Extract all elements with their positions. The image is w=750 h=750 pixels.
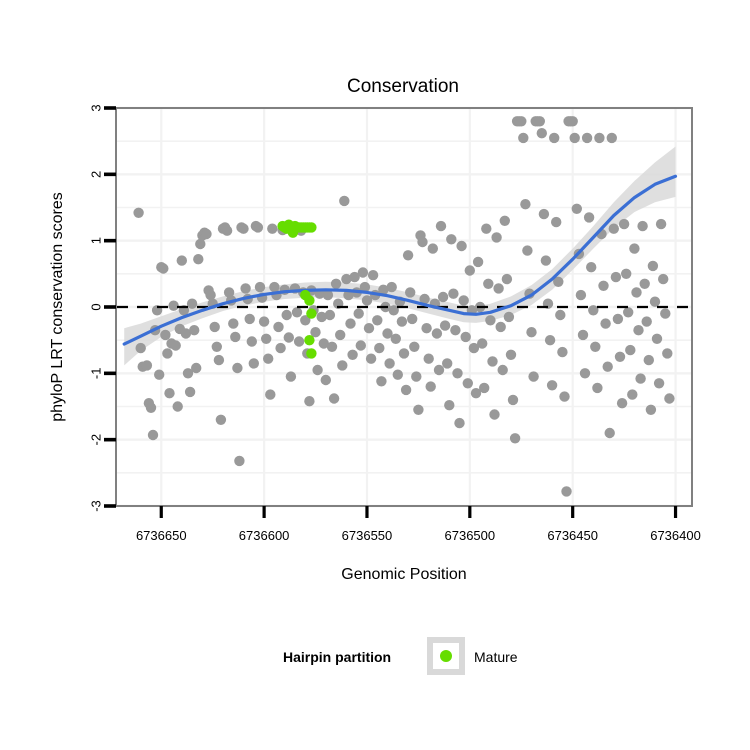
data-point xyxy=(580,368,590,378)
data-point xyxy=(222,226,232,236)
data-point xyxy=(292,307,302,317)
data-point xyxy=(654,378,664,388)
y-tick-label: 3 xyxy=(89,104,104,111)
data-point xyxy=(171,340,181,350)
data-point xyxy=(164,388,174,398)
data-point xyxy=(347,350,357,360)
y-tick-label: -2 xyxy=(89,434,104,446)
data-point xyxy=(228,318,238,328)
x-tick-label: 6736600 xyxy=(239,528,290,543)
data-point xyxy=(304,396,314,406)
data-point xyxy=(590,342,600,352)
data-point xyxy=(325,310,335,320)
data-point xyxy=(162,348,172,358)
data-point xyxy=(598,281,608,291)
data-point xyxy=(489,409,499,419)
data-point xyxy=(358,267,368,277)
x-tick-label: 6736550 xyxy=(342,528,393,543)
data-point xyxy=(522,245,532,255)
data-point xyxy=(605,428,615,438)
data-point xyxy=(409,342,419,352)
data-point xyxy=(658,274,668,284)
y-tick-label: 0 xyxy=(89,303,104,310)
data-point xyxy=(158,263,168,273)
data-point xyxy=(356,340,366,350)
data-point xyxy=(259,316,269,326)
data-point xyxy=(642,316,652,326)
data-point xyxy=(397,316,407,326)
data-point xyxy=(545,335,555,345)
data-point xyxy=(146,403,156,413)
data-point xyxy=(442,358,452,368)
data-point xyxy=(463,378,473,388)
data-point xyxy=(625,345,635,355)
y-tick-label: -3 xyxy=(89,500,104,512)
data-point xyxy=(275,343,285,353)
data-point xyxy=(421,323,431,333)
y-tick-label: 2 xyxy=(89,171,104,178)
data-point xyxy=(387,282,397,292)
data-point xyxy=(518,133,528,143)
data-point xyxy=(193,254,203,264)
data-point xyxy=(331,279,341,289)
data-point xyxy=(168,301,178,311)
data-point xyxy=(502,274,512,284)
data-point xyxy=(541,255,551,265)
data-point xyxy=(506,350,516,360)
data-point xyxy=(487,356,497,366)
data-point xyxy=(493,283,503,293)
data-point xyxy=(216,415,226,425)
data-point xyxy=(160,330,170,340)
data-point xyxy=(403,250,413,260)
data-point xyxy=(354,308,364,318)
data-point xyxy=(265,389,275,399)
data-point xyxy=(644,355,654,365)
data-point xyxy=(393,370,403,380)
data-point xyxy=(664,393,674,403)
data-point xyxy=(526,327,536,337)
data-point xyxy=(405,287,415,297)
data-point xyxy=(448,289,458,299)
data-point xyxy=(399,348,409,358)
data-point xyxy=(461,332,471,342)
data-point xyxy=(401,385,411,395)
data-point xyxy=(516,116,526,126)
data-point xyxy=(586,262,596,272)
legend-title: Hairpin partition xyxy=(283,649,391,665)
y-tick-label: -1 xyxy=(89,368,104,380)
data-point xyxy=(249,358,259,368)
data-point xyxy=(547,380,557,390)
data-point xyxy=(491,232,501,242)
x-tick-label: 6736400 xyxy=(650,528,701,543)
data-point xyxy=(510,433,520,443)
data-point xyxy=(555,310,565,320)
data-point xyxy=(504,312,514,322)
data-point xyxy=(304,295,314,305)
data-point xyxy=(306,348,316,358)
data-point xyxy=(312,365,322,375)
data-point xyxy=(185,387,195,397)
data-point xyxy=(594,133,604,143)
data-point xyxy=(559,391,569,401)
data-point xyxy=(454,418,464,428)
data-point xyxy=(444,400,454,410)
data-point xyxy=(212,342,222,352)
data-point xyxy=(623,307,633,317)
data-point xyxy=(465,265,475,275)
data-point xyxy=(438,292,448,302)
data-point xyxy=(337,360,347,370)
data-point xyxy=(611,272,621,282)
data-point xyxy=(372,315,382,325)
x-tick-label: 6736650 xyxy=(136,528,187,543)
data-point xyxy=(329,393,339,403)
data-point xyxy=(304,335,314,345)
data-point xyxy=(376,376,386,386)
data-point xyxy=(440,320,450,330)
data-point xyxy=(551,217,561,227)
data-point xyxy=(588,305,598,315)
data-point xyxy=(615,352,625,362)
data-point xyxy=(214,355,224,365)
x-tick-label: 6736500 xyxy=(445,528,496,543)
data-point xyxy=(286,371,296,381)
data-point xyxy=(306,308,316,318)
data-point xyxy=(633,325,643,335)
data-point xyxy=(584,212,594,222)
data-point xyxy=(417,237,427,247)
data-point xyxy=(535,116,545,126)
data-point xyxy=(173,401,183,411)
data-point xyxy=(327,342,337,352)
data-point xyxy=(627,389,637,399)
data-point xyxy=(570,133,580,143)
data-point xyxy=(613,314,623,324)
data-point xyxy=(568,116,578,126)
data-point xyxy=(520,199,530,209)
data-point xyxy=(629,243,639,253)
data-point xyxy=(617,398,627,408)
data-point xyxy=(136,343,146,353)
data-point xyxy=(652,334,662,344)
data-point xyxy=(637,221,647,231)
data-point xyxy=(572,204,582,214)
data-point xyxy=(477,338,487,348)
data-point xyxy=(660,308,670,318)
x-tick-label: 6736450 xyxy=(547,528,598,543)
data-point xyxy=(282,310,292,320)
data-point xyxy=(335,330,345,340)
data-point xyxy=(619,219,629,229)
data-point xyxy=(640,279,650,289)
data-point xyxy=(133,208,143,218)
data-point xyxy=(240,283,250,293)
data-point xyxy=(267,224,277,234)
data-point xyxy=(500,216,510,226)
data-point xyxy=(607,133,617,143)
data-point xyxy=(247,336,257,346)
legend-entry-label: Mature xyxy=(474,649,518,665)
data-point xyxy=(339,196,349,206)
data-point xyxy=(609,224,619,234)
data-point xyxy=(576,290,586,300)
y-axis-title: phyloP LRT conservation scores xyxy=(49,192,66,421)
data-point xyxy=(273,322,283,332)
data-point xyxy=(537,128,547,138)
data-point xyxy=(189,325,199,335)
data-point xyxy=(154,370,164,380)
data-point xyxy=(603,362,613,372)
data-point xyxy=(452,368,462,378)
data-point xyxy=(450,325,460,335)
data-point xyxy=(255,282,265,292)
data-point xyxy=(384,358,394,368)
data-point xyxy=(374,343,384,353)
data-point xyxy=(411,371,421,381)
data-point xyxy=(578,330,588,340)
data-point xyxy=(549,133,559,143)
y-tick-label: 1 xyxy=(89,237,104,244)
data-point xyxy=(407,314,417,324)
data-point xyxy=(191,363,201,373)
data-point xyxy=(446,234,456,244)
data-point xyxy=(142,360,152,370)
data-point xyxy=(631,287,641,297)
data-point xyxy=(253,222,263,232)
data-point xyxy=(230,332,240,342)
page-title: Conservation xyxy=(347,76,459,97)
x-axis-title: Genomic Position xyxy=(341,566,466,583)
data-point xyxy=(528,371,538,381)
data-point xyxy=(261,334,271,344)
data-point xyxy=(232,363,242,373)
data-point xyxy=(561,486,571,496)
data-point xyxy=(662,348,672,358)
data-point xyxy=(426,381,436,391)
data-point xyxy=(294,336,304,346)
data-point xyxy=(148,430,158,440)
data-point xyxy=(496,322,506,332)
data-point xyxy=(201,229,211,239)
data-point xyxy=(635,373,645,383)
data-point xyxy=(582,133,592,143)
data-point xyxy=(456,241,466,251)
data-point xyxy=(345,318,355,328)
data-point xyxy=(621,269,631,279)
data-point xyxy=(656,219,666,229)
data-point xyxy=(368,270,378,280)
data-point xyxy=(238,224,248,234)
data-point xyxy=(366,354,376,364)
data-point xyxy=(539,209,549,219)
data-point xyxy=(648,261,658,271)
data-point xyxy=(391,334,401,344)
data-point xyxy=(284,332,294,342)
conservation-scatter-plot: Conservation phyloP LRT conservation sco… xyxy=(0,0,750,750)
legend-mature-dot-icon xyxy=(440,650,452,662)
data-point xyxy=(424,354,434,364)
data-point xyxy=(508,395,518,405)
data-point xyxy=(187,299,197,309)
data-point xyxy=(306,222,316,232)
data-point xyxy=(245,314,255,324)
data-point xyxy=(479,383,489,393)
data-point xyxy=(498,365,508,375)
data-point xyxy=(434,365,444,375)
data-point xyxy=(436,221,446,231)
data-point xyxy=(210,322,220,332)
data-point xyxy=(234,456,244,466)
data-point xyxy=(177,255,187,265)
data-point xyxy=(646,405,656,415)
data-point xyxy=(432,328,442,338)
data-point xyxy=(557,347,567,357)
data-point xyxy=(321,375,331,385)
data-point xyxy=(485,315,495,325)
data-point xyxy=(650,297,660,307)
data-point xyxy=(473,257,483,267)
data-point xyxy=(413,405,423,415)
data-point xyxy=(483,279,493,289)
data-point xyxy=(459,295,469,305)
data-point xyxy=(481,224,491,234)
data-point xyxy=(428,243,438,253)
data-point xyxy=(364,323,374,333)
data-point xyxy=(592,383,602,393)
data-point xyxy=(600,318,610,328)
chart-root: Conservation phyloP LRT conservation sco… xyxy=(0,0,750,750)
data-point xyxy=(263,354,273,364)
